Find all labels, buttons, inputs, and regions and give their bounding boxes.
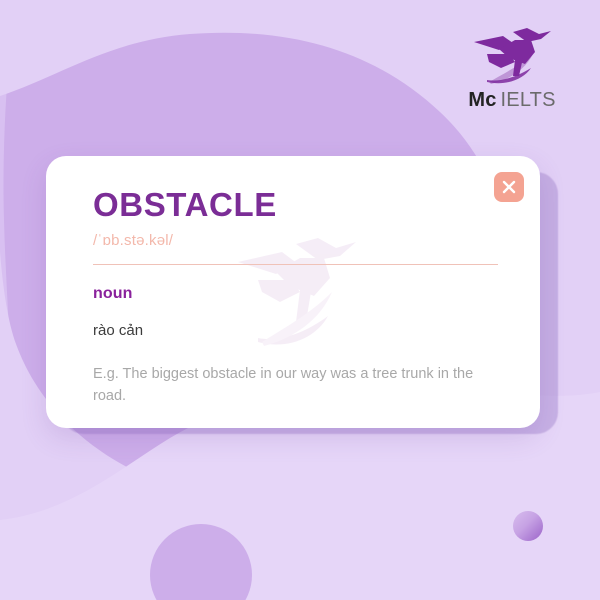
phonetic-transcription: /ˈɒb.stə.kəl/ <box>93 232 492 249</box>
example-sentence: E.g. The biggest obstacle in our way was… <box>93 363 489 408</box>
brand-name-bold: Mc <box>468 89 496 111</box>
word-title: OBSTACLE <box>93 188 492 223</box>
card-content: OBSTACLE /ˈɒb.stə.kəl/ noun rào cản E.g.… <box>46 156 540 428</box>
background-dot <box>513 511 543 541</box>
part-of-speech: noun <box>93 285 492 303</box>
brand-name-light: IELTS <box>501 89 556 111</box>
origami-hummingbird-icon <box>469 24 555 86</box>
section-divider <box>93 264 498 265</box>
slide-canvas: McIELTS OBSTACLE /ˈɒb.stə.kəl/ n <box>0 0 600 600</box>
vocabulary-card: OBSTACLE /ˈɒb.stə.kəl/ noun rào cản E.g.… <box>46 156 540 428</box>
translation-text: rào cản <box>93 322 492 339</box>
brand-logo: McIELTS <box>458 24 566 110</box>
brand-wordmark: McIELTS <box>458 90 566 110</box>
